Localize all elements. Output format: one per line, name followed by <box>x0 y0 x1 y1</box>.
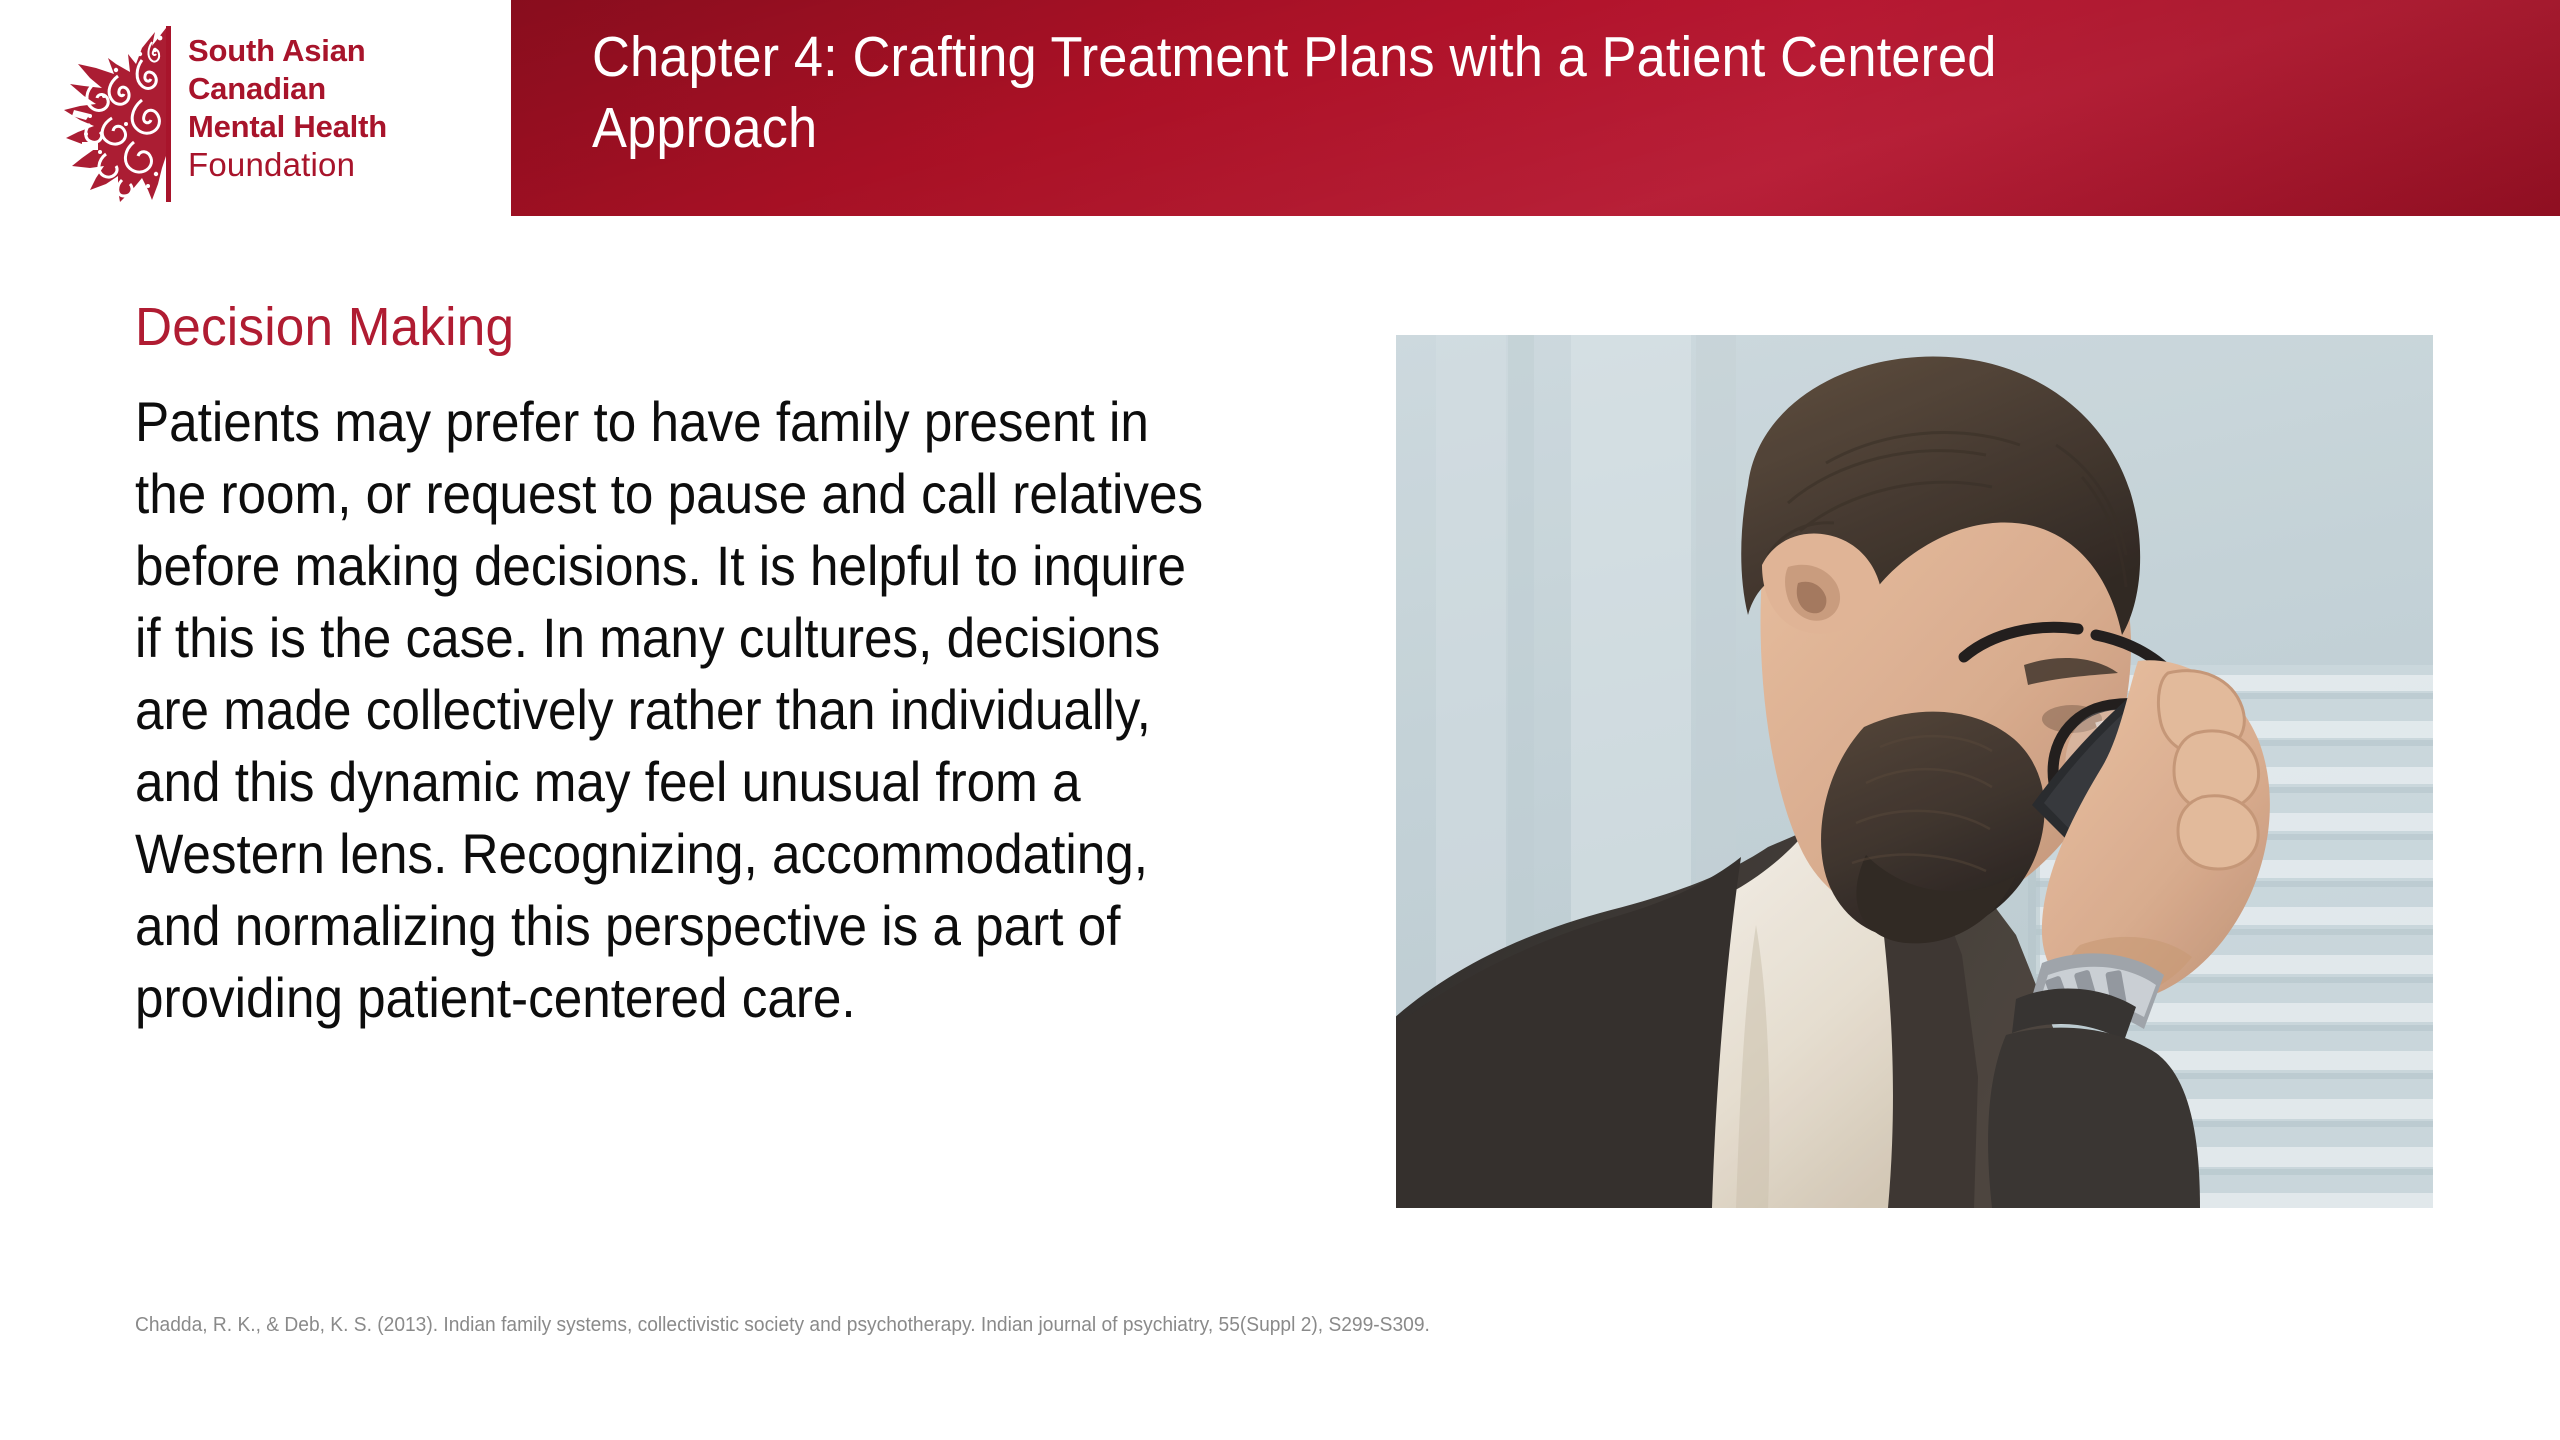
logo-line-4: Foundation <box>188 146 387 184</box>
logo-line-2: Canadian <box>188 70 387 108</box>
body-paragraph: Patients may prefer to have family prese… <box>135 386 1215 1034</box>
citation-text: Chadda, R. K., & Deb, K. S. (2013). Indi… <box>135 1312 1430 1338</box>
photo-illustration <box>1396 335 2433 1208</box>
organization-logo: South Asian Canadian Mental Health Found… <box>56 24 496 204</box>
slide: South Asian Canadian Mental Health Found… <box>0 0 2560 1440</box>
maple-leaf-paisley-logo-icon <box>56 24 174 204</box>
photo-man-on-phone <box>1396 335 2433 1208</box>
header-band: Chapter 4: Crafting Treatment Plans with… <box>511 0 2560 216</box>
chapter-title: Chapter 4: Crafting Treatment Plans with… <box>592 22 2156 164</box>
logo-line-3: Mental Health <box>188 108 387 146</box>
logo-line-1: South Asian <box>188 32 387 70</box>
section-heading: Decision Making <box>135 295 514 359</box>
logo-wordmark: South Asian Canadian Mental Health Found… <box>188 24 387 184</box>
